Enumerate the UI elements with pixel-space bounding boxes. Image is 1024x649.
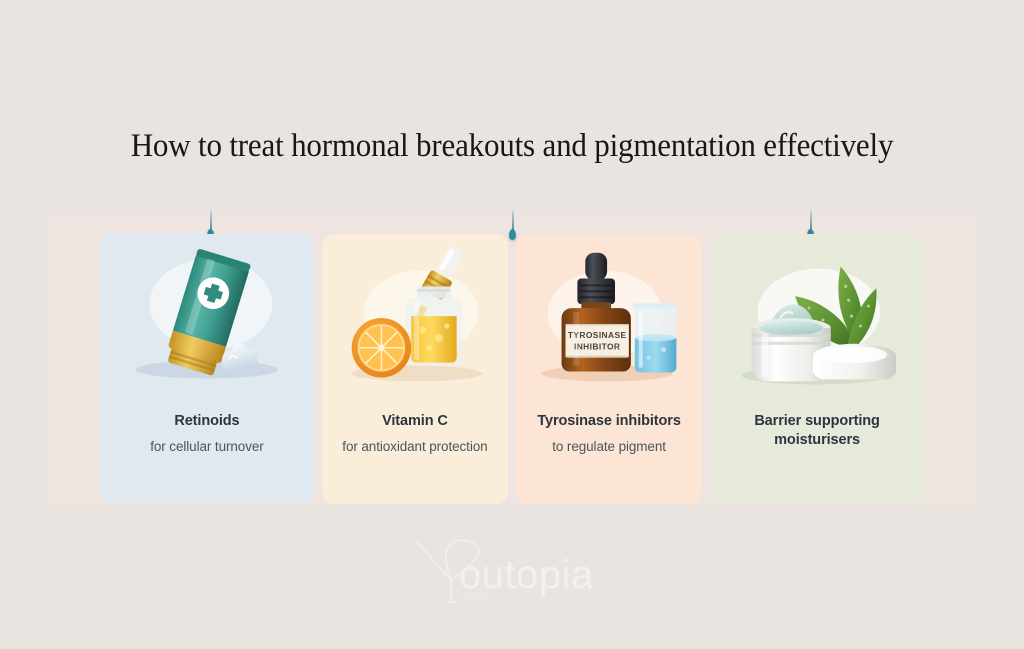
card-labels: Barrier supporting moisturisers xyxy=(710,412,924,450)
card-subtitle: for antioxidant protection xyxy=(334,437,496,456)
amber-dropper-bottle-icon: TYROSINASE INHIBITOR xyxy=(516,234,702,412)
serum-dropper-orange-icon xyxy=(322,234,508,412)
card-barrier-moisturisers[interactable]: Barrier supporting moisturisers xyxy=(710,234,924,504)
svg-text:INHIBITOR: INHIBITOR xyxy=(574,342,620,352)
logo-wordmark: outopia xyxy=(459,553,594,597)
page-title: How to treat hormonal breakouts and pigm… xyxy=(31,128,994,165)
logo-tagline: MEDICAL xyxy=(463,596,528,605)
card-title: Tyrosinase inhibitors xyxy=(528,412,690,431)
card-labels: Vitamin C for antioxidant protection xyxy=(322,412,508,456)
card-tyrosinase-inhibitors[interactable]: TYROSINASE INHIBITOR Tyrosinase inhibito… xyxy=(516,234,702,504)
youtopia-logo-icon: outopia MEDICAL xyxy=(397,532,627,608)
treatment-card-row: Retinoids for cellular turnover xyxy=(100,234,924,504)
card-title: Vitamin C xyxy=(334,412,496,431)
card-vitamin-c[interactable]: Vitamin C for antioxidant protection xyxy=(322,234,508,504)
card-labels: Tyrosinase inhibitors to regulate pigmen… xyxy=(516,412,702,456)
card-labels: Retinoids for cellular turnover xyxy=(100,412,314,456)
card-title: Barrier supporting moisturisers xyxy=(722,412,912,450)
cream-tube-icon xyxy=(100,234,314,412)
card-retinoids[interactable]: Retinoids for cellular turnover xyxy=(100,234,314,504)
card-title: Retinoids xyxy=(112,412,302,431)
cream-jar-aloe-icon xyxy=(710,234,924,412)
card-subtitle: for cellular turnover xyxy=(112,437,302,456)
card-subtitle: to regulate pigment xyxy=(528,437,690,456)
brand-logo: outopia MEDICAL xyxy=(0,532,1024,608)
